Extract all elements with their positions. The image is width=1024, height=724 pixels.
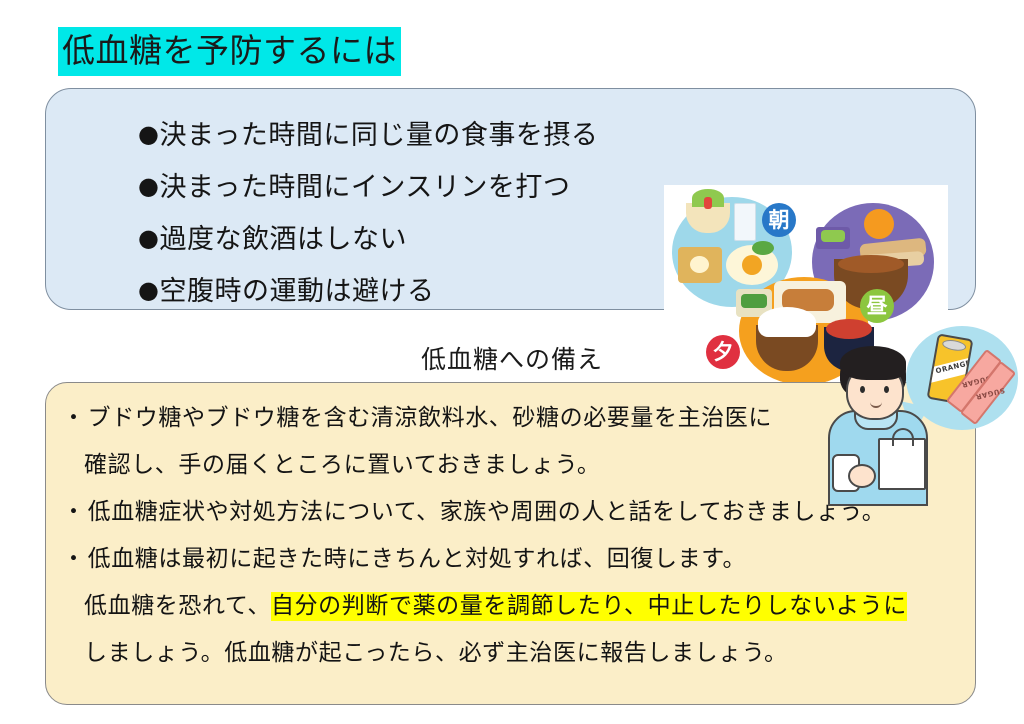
highlighted-text-segment: 自分の判断で薬の量を調節したり、中止したりしないように (271, 592, 907, 621)
prevention-item-text: 決まった時間に同じ量の食事を摂る (159, 120, 598, 151)
preparedness-item-line: ブドウ糖やブドウ糖を含む清涼飲料水、砂糖の必要量を主治医に (88, 405, 772, 431)
bullet-marker-icon: ・ (62, 546, 88, 572)
prevention-item-text: 決まった時間にインスリンを打つ (159, 172, 570, 203)
list-item: ●決まった時間にインスリンを打つ (138, 161, 598, 213)
preparedness-item-line: 低血糖は最初に起きた時にきちんと対処すれば、回復します。 (88, 546, 747, 572)
broccoli-icon (752, 241, 774, 255)
noon-badge-icon: 昼 (860, 289, 894, 323)
list-item: ●決まった時間に同じ量の食事を摂る (138, 109, 598, 161)
morning-badge-icon: 朝 (762, 203, 796, 237)
person-hair-front-icon (840, 346, 906, 380)
person-eye-icon (884, 386, 889, 393)
list-item: ●空腹時の運動は避ける (138, 265, 598, 317)
person-hand-icon (848, 464, 876, 488)
bullet-marker-icon: ・ (62, 405, 88, 431)
bullet-marker-icon: ・ (62, 499, 88, 525)
bullet-marker-icon: ● (138, 120, 159, 148)
prevention-item-text: 過度な飲酒はしない (159, 224, 407, 255)
page-title: 低血糖を予防するには (58, 27, 401, 76)
milk-glass-icon (734, 203, 756, 241)
bullet-marker-icon: ● (138, 276, 159, 304)
helper-character-illustration: ORANGE SUGAR SUGAR (822, 326, 1024, 502)
preparedness-item-line-highlighted: 低血糖を恐れて、自分の判断で薬の量を調節したり、中止したりしないように (62, 583, 962, 630)
bullet-marker-icon: ● (138, 172, 159, 200)
plain-text-segment: 低血糖を恐れて、 (84, 593, 271, 619)
can-pull-tab-icon (941, 338, 966, 352)
prevention-item-text: 空腹時の運動は避ける (159, 276, 434, 307)
toast-icon (678, 247, 722, 283)
orange-fruit-icon (864, 209, 894, 239)
side-dish-icon (816, 227, 850, 249)
list-item: ・低血糖は最初に起きた時にきちんと対処すれば、回復します。 低血糖を恐れて、自分… (62, 536, 962, 677)
person-eye-icon (860, 386, 865, 393)
preparedness-item-line: しましょう。低血糖が起こったら、必ず主治医に報告しましょう。 (62, 630, 962, 677)
prevention-panel: ●決まった時間に同じ量の食事を摂る ●決まった時間にインスリンを打つ ●過度な飲… (45, 88, 976, 310)
shopping-bag-icon (878, 438, 926, 490)
prevention-bullet-list: ●決まった時間に同じ量の食事を摂る ●決まった時間にインスリンを打つ ●過度な飲… (138, 109, 598, 317)
preparedness-item-line: 低血糖症状や対処方法について、家族や周囲の人と話をしておきましょう。 (88, 499, 886, 525)
bullet-marker-icon: ● (138, 224, 159, 252)
list-item: ●過度な飲酒はしない (138, 213, 598, 265)
